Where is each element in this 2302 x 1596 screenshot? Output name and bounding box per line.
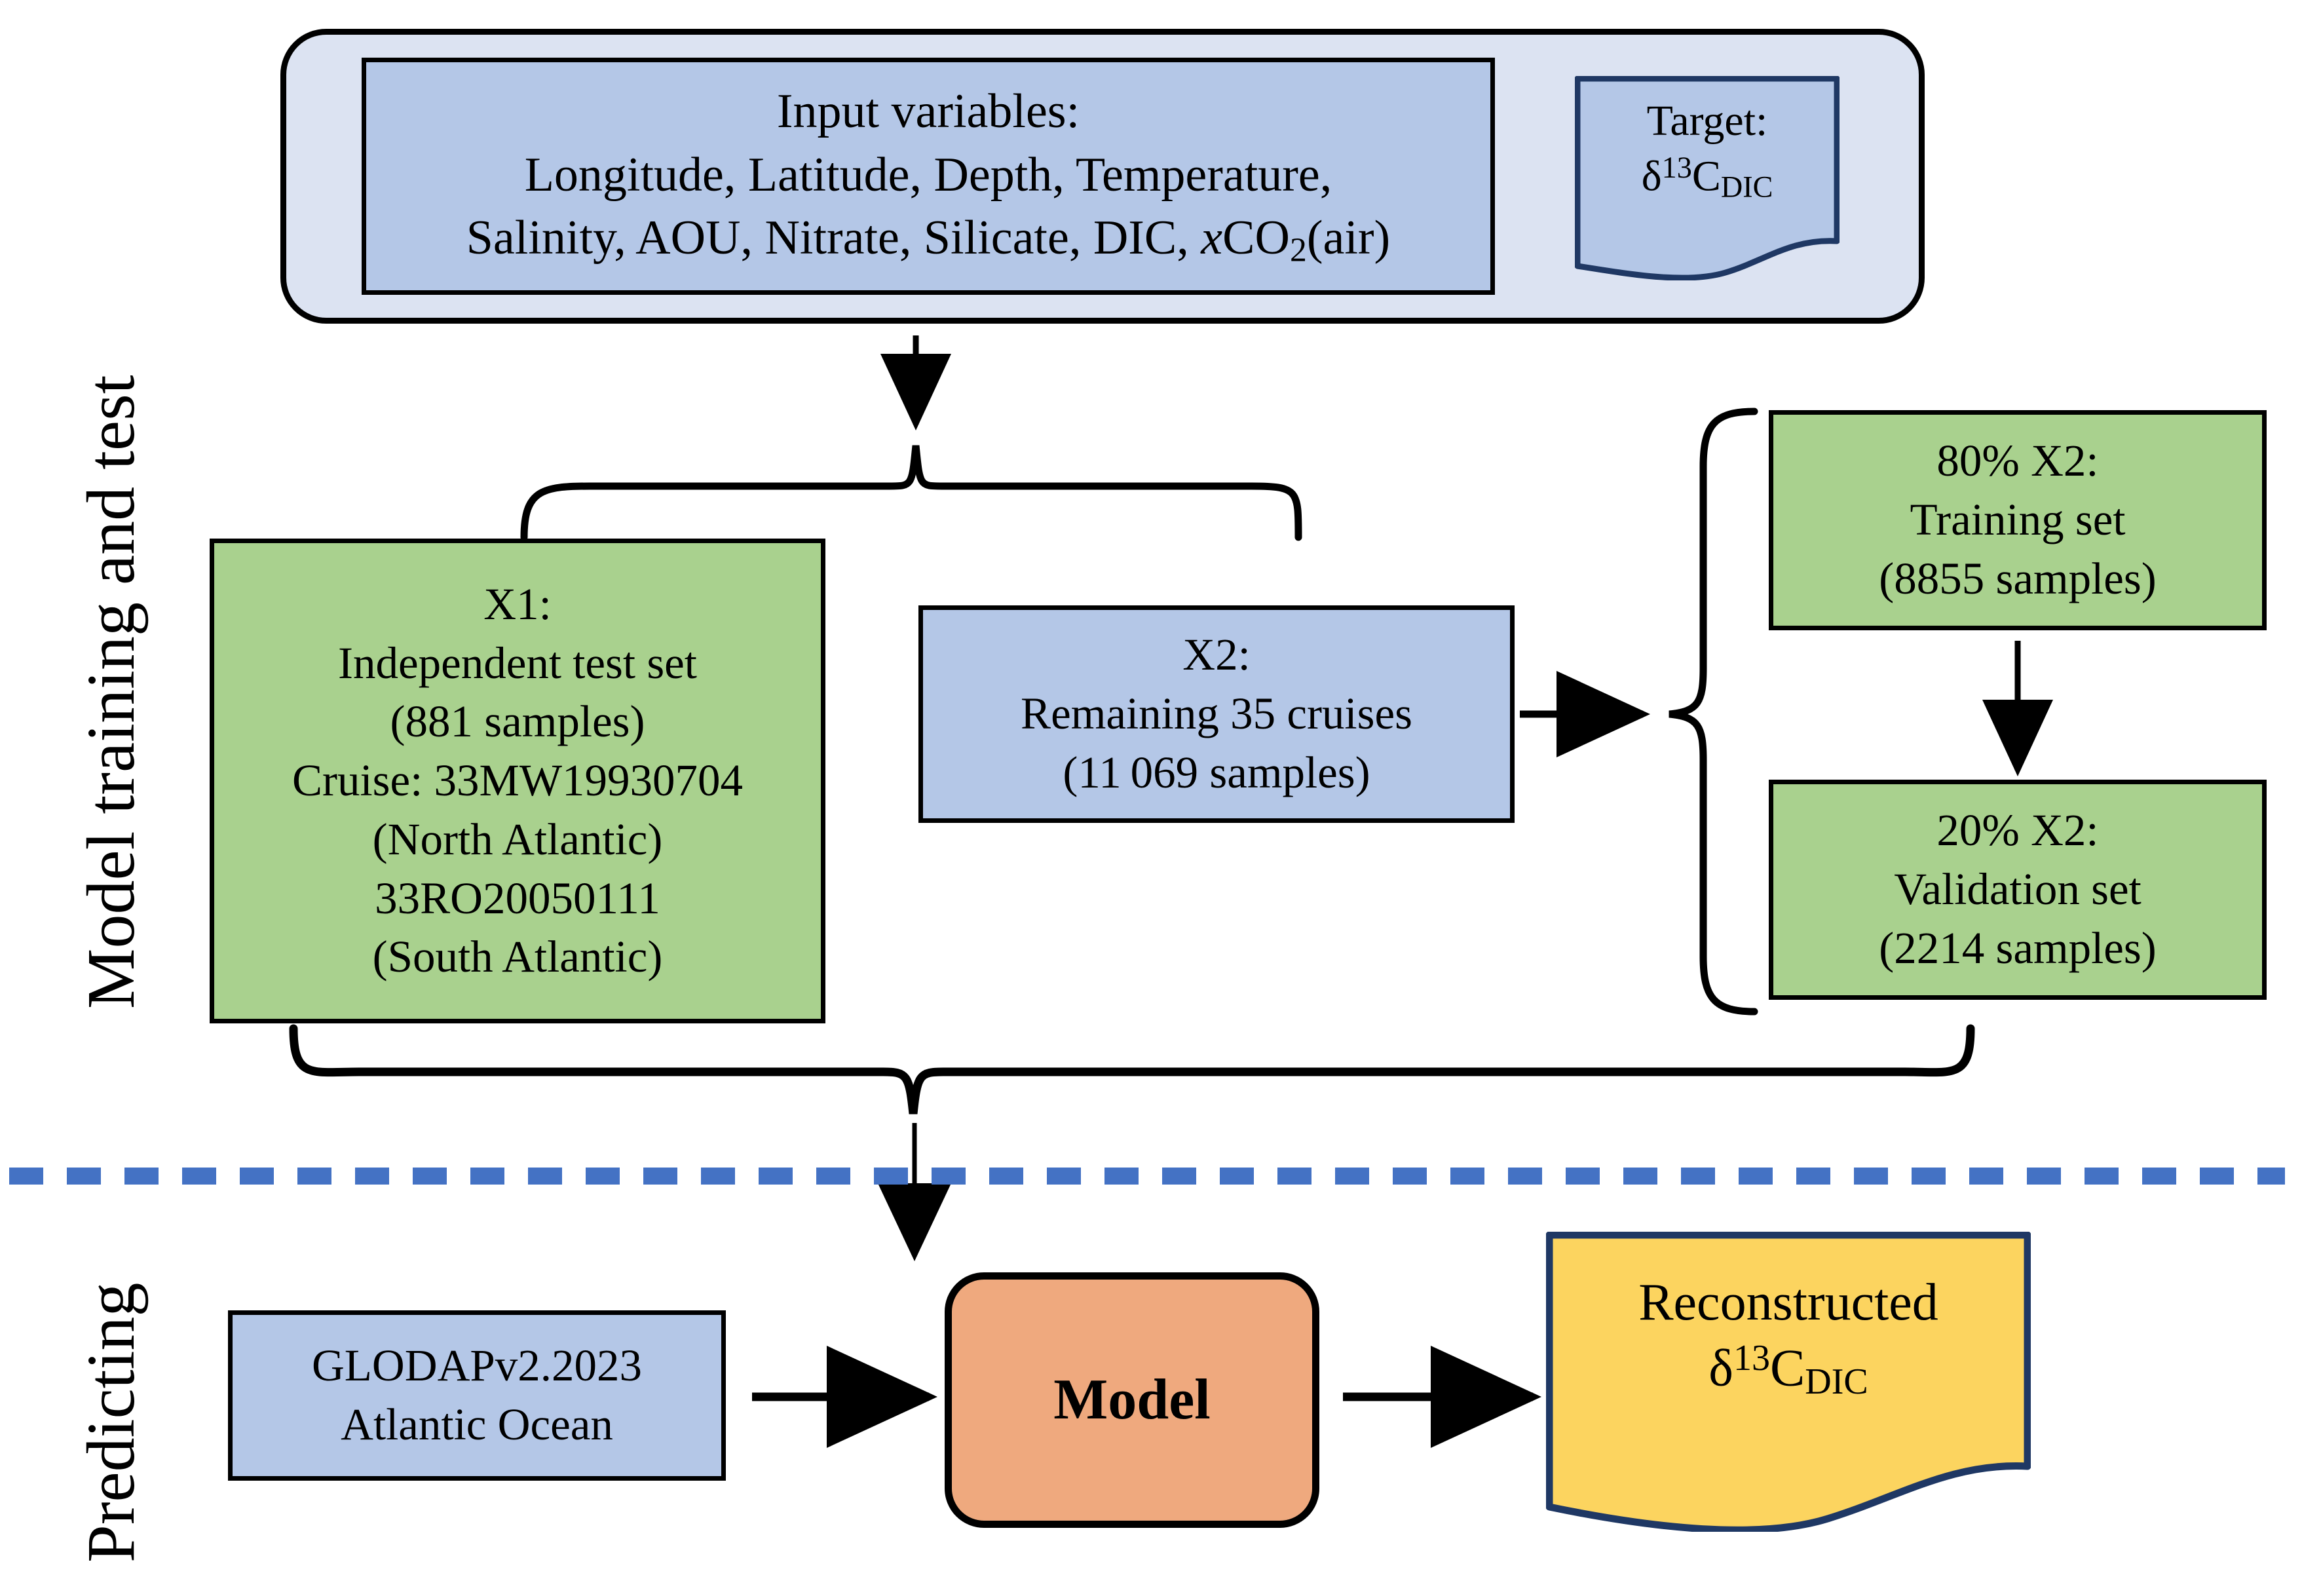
input-variables-line-1: Input variables: <box>466 80 1390 143</box>
input-variables-line-3-x: x <box>1201 211 1222 265</box>
x1-line-7: (South Atlantic) <box>292 928 743 987</box>
x1-line-1: X1: <box>292 575 743 634</box>
glodap-line-2: Atlantic Ocean <box>312 1396 642 1454</box>
x2-remaining-cruises-box[interactable]: X2: Remaining 35 cruises (11 069 samples… <box>918 605 1515 823</box>
x1-line-6: 33RO20050111 <box>292 869 743 928</box>
section-label-predicting: Predicting <box>77 1283 145 1563</box>
x2-line-1: X2: <box>1021 626 1412 685</box>
glodap-line-1: GLODAPv2.2023 <box>312 1337 642 1396</box>
section-label-top-text: Model training and test <box>73 375 149 1009</box>
brace-merge-to-model <box>293 1029 1971 1114</box>
input-variables-line-3-pre: Salinity, AOU, Nitrate, Silicate, DIC, <box>466 211 1201 265</box>
input-variables-line-3: Salinity, AOU, Nitrate, Silicate, DIC, x… <box>466 206 1390 273</box>
reconstructed-doc-outline-icon <box>1546 1232 2031 1532</box>
glodap-source-box[interactable]: GLODAPv2.2023 Atlantic Ocean <box>228 1310 726 1481</box>
section-label-model-training-and-test: Model training and test <box>77 375 145 1009</box>
reconstructed-output-document[interactable]: Reconstructed δ13CDIC <box>1546 1232 2031 1532</box>
flowchart-canvas: Model training and test Predicting Input… <box>0 0 2302 1596</box>
model-label: Model <box>1053 1363 1211 1437</box>
validation-line-2: Validation set <box>1879 860 2157 919</box>
brace-split-train-validation <box>1669 411 1754 1012</box>
validation-line-3: (2214 samples) <box>1879 919 2157 978</box>
training-line-3: (8855 samples) <box>1879 550 2157 609</box>
section-label-bottom-text: Predicting <box>73 1283 149 1563</box>
input-variables-box[interactable]: Input variables: Longitude, Latitude, De… <box>362 58 1495 295</box>
training-set-box[interactable]: 80% X2: Training set (8855 samples) <box>1769 410 2267 630</box>
target-document-shape[interactable]: Target: δ13CDIC <box>1575 76 1840 280</box>
x1-line-2: Independent test set <box>292 634 743 693</box>
training-line-1: 80% X2: <box>1879 432 2157 491</box>
x1-line-3: (881 samples) <box>292 693 743 751</box>
x2-line-3: (11 069 samples) <box>1021 744 1412 803</box>
x1-independent-test-set-box[interactable]: X1: Independent test set (881 samples) C… <box>210 539 825 1023</box>
brace-split-x1-x2 <box>524 446 1298 537</box>
validation-set-box[interactable]: 20% X2: Validation set (2214 samples) <box>1769 780 2267 1000</box>
input-variables-line-2: Longitude, Latitude, Depth, Temperature, <box>466 143 1390 206</box>
x1-line-5: (North Atlantic) <box>292 810 743 869</box>
input-variables-line-3-co: CO <box>1222 211 1290 265</box>
validation-line-1: 20% X2: <box>1879 801 2157 860</box>
model-box[interactable]: Model <box>945 1272 1319 1528</box>
target-doc-outline-icon <box>1575 76 1840 280</box>
x2-line-2: Remaining 35 cruises <box>1021 685 1412 744</box>
input-variables-line-3-sub: 2 <box>1290 231 1307 269</box>
input-variables-line-3-post: (air) <box>1307 211 1390 265</box>
training-line-2: Training set <box>1879 491 2157 550</box>
x1-line-4: Cruise: 33MW19930704 <box>292 751 743 810</box>
